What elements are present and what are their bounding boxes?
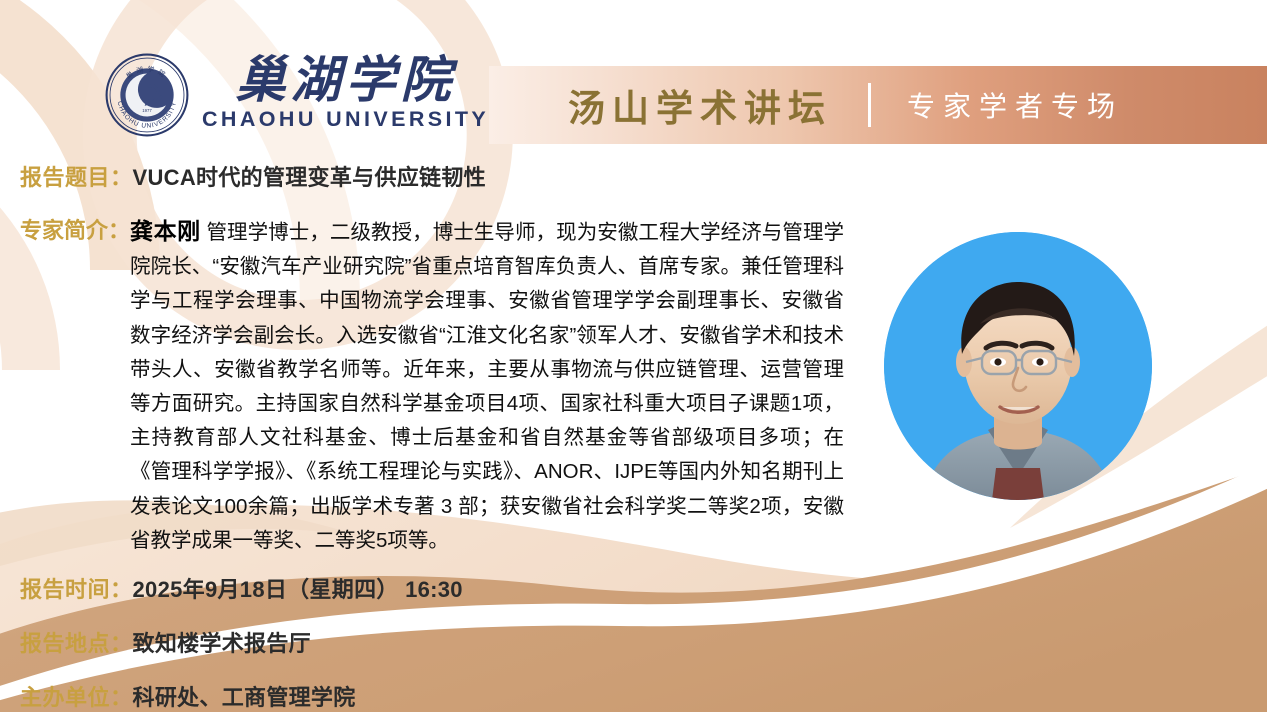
poster-header: 1977 CHAOHU UNIVERSITY 巢湖学院 巢湖学院 CHAOHU … bbox=[0, 0, 1267, 150]
speaker-portrait-image bbox=[884, 232, 1152, 500]
speaker-bio-text: 龚本刚 管理学博士，二级教授，博士生导师，现为安徽工程大学经济与管理学院院长、“… bbox=[130, 214, 844, 558]
report-place-row: 报告地点： 致知楼学术报告厅 bbox=[20, 626, 311, 658]
svg-text:1977: 1977 bbox=[142, 108, 152, 113]
report-title-label: 报告题目： bbox=[20, 160, 133, 192]
report-time-value: 2025年9月18日（星期四） 16:30 bbox=[133, 572, 463, 604]
lecture-poster: 1977 CHAOHU UNIVERSITY 巢湖学院 巢湖学院 CHAOHU … bbox=[0, 0, 1267, 712]
forum-banner: 汤山学术讲坛 专家学者专场 bbox=[489, 66, 1267, 144]
report-place-value: 致知楼学术报告厅 bbox=[133, 626, 311, 658]
report-host-label: 主办单位： bbox=[20, 680, 133, 712]
speaker-bio-block: 专家简介： 龚本刚 管理学博士，二级教授，博士生导师，现为安徽工程大学经济与管理… bbox=[20, 214, 880, 558]
university-seal-icon: 1977 CHAOHU UNIVERSITY 巢湖学院 bbox=[104, 52, 190, 138]
forum-subtitle: 专家学者专场 bbox=[907, 85, 1123, 125]
banner-divider bbox=[868, 83, 871, 127]
forum-title: 汤山学术讲坛 bbox=[568, 78, 832, 132]
report-host-value: 科研处、工商管理学院 bbox=[133, 680, 356, 712]
report-host-row: 主办单位： 科研处、工商管理学院 bbox=[20, 680, 356, 712]
university-logo: 1977 CHAOHU UNIVERSITY 巢湖学院 巢湖学院 CHAOHU … bbox=[104, 52, 489, 138]
report-place-label: 报告地点： bbox=[20, 626, 133, 658]
speaker-name: 龚本刚 bbox=[130, 218, 201, 244]
speaker-bio-paragraph: 管理学博士，二级教授，博士生导师，现为安徽工程大学经济与管理学院院长、“安徽汽车… bbox=[130, 221, 844, 552]
report-title-value: VUCA时代的管理变革与供应链韧性 bbox=[133, 160, 486, 192]
report-time-row: 报告时间： 2025年9月18日（星期四） 16:30 bbox=[20, 572, 463, 604]
university-name-en: CHAOHU UNIVERSITY bbox=[202, 107, 489, 132]
report-title-row: 报告题目： VUCA时代的管理变革与供应链韧性 bbox=[20, 160, 486, 192]
speaker-portrait bbox=[884, 232, 1152, 500]
speaker-bio-label: 专家简介： bbox=[20, 214, 130, 248]
report-time-label: 报告时间： bbox=[20, 572, 133, 604]
university-name-cn: 巢湖学院 bbox=[236, 54, 456, 106]
